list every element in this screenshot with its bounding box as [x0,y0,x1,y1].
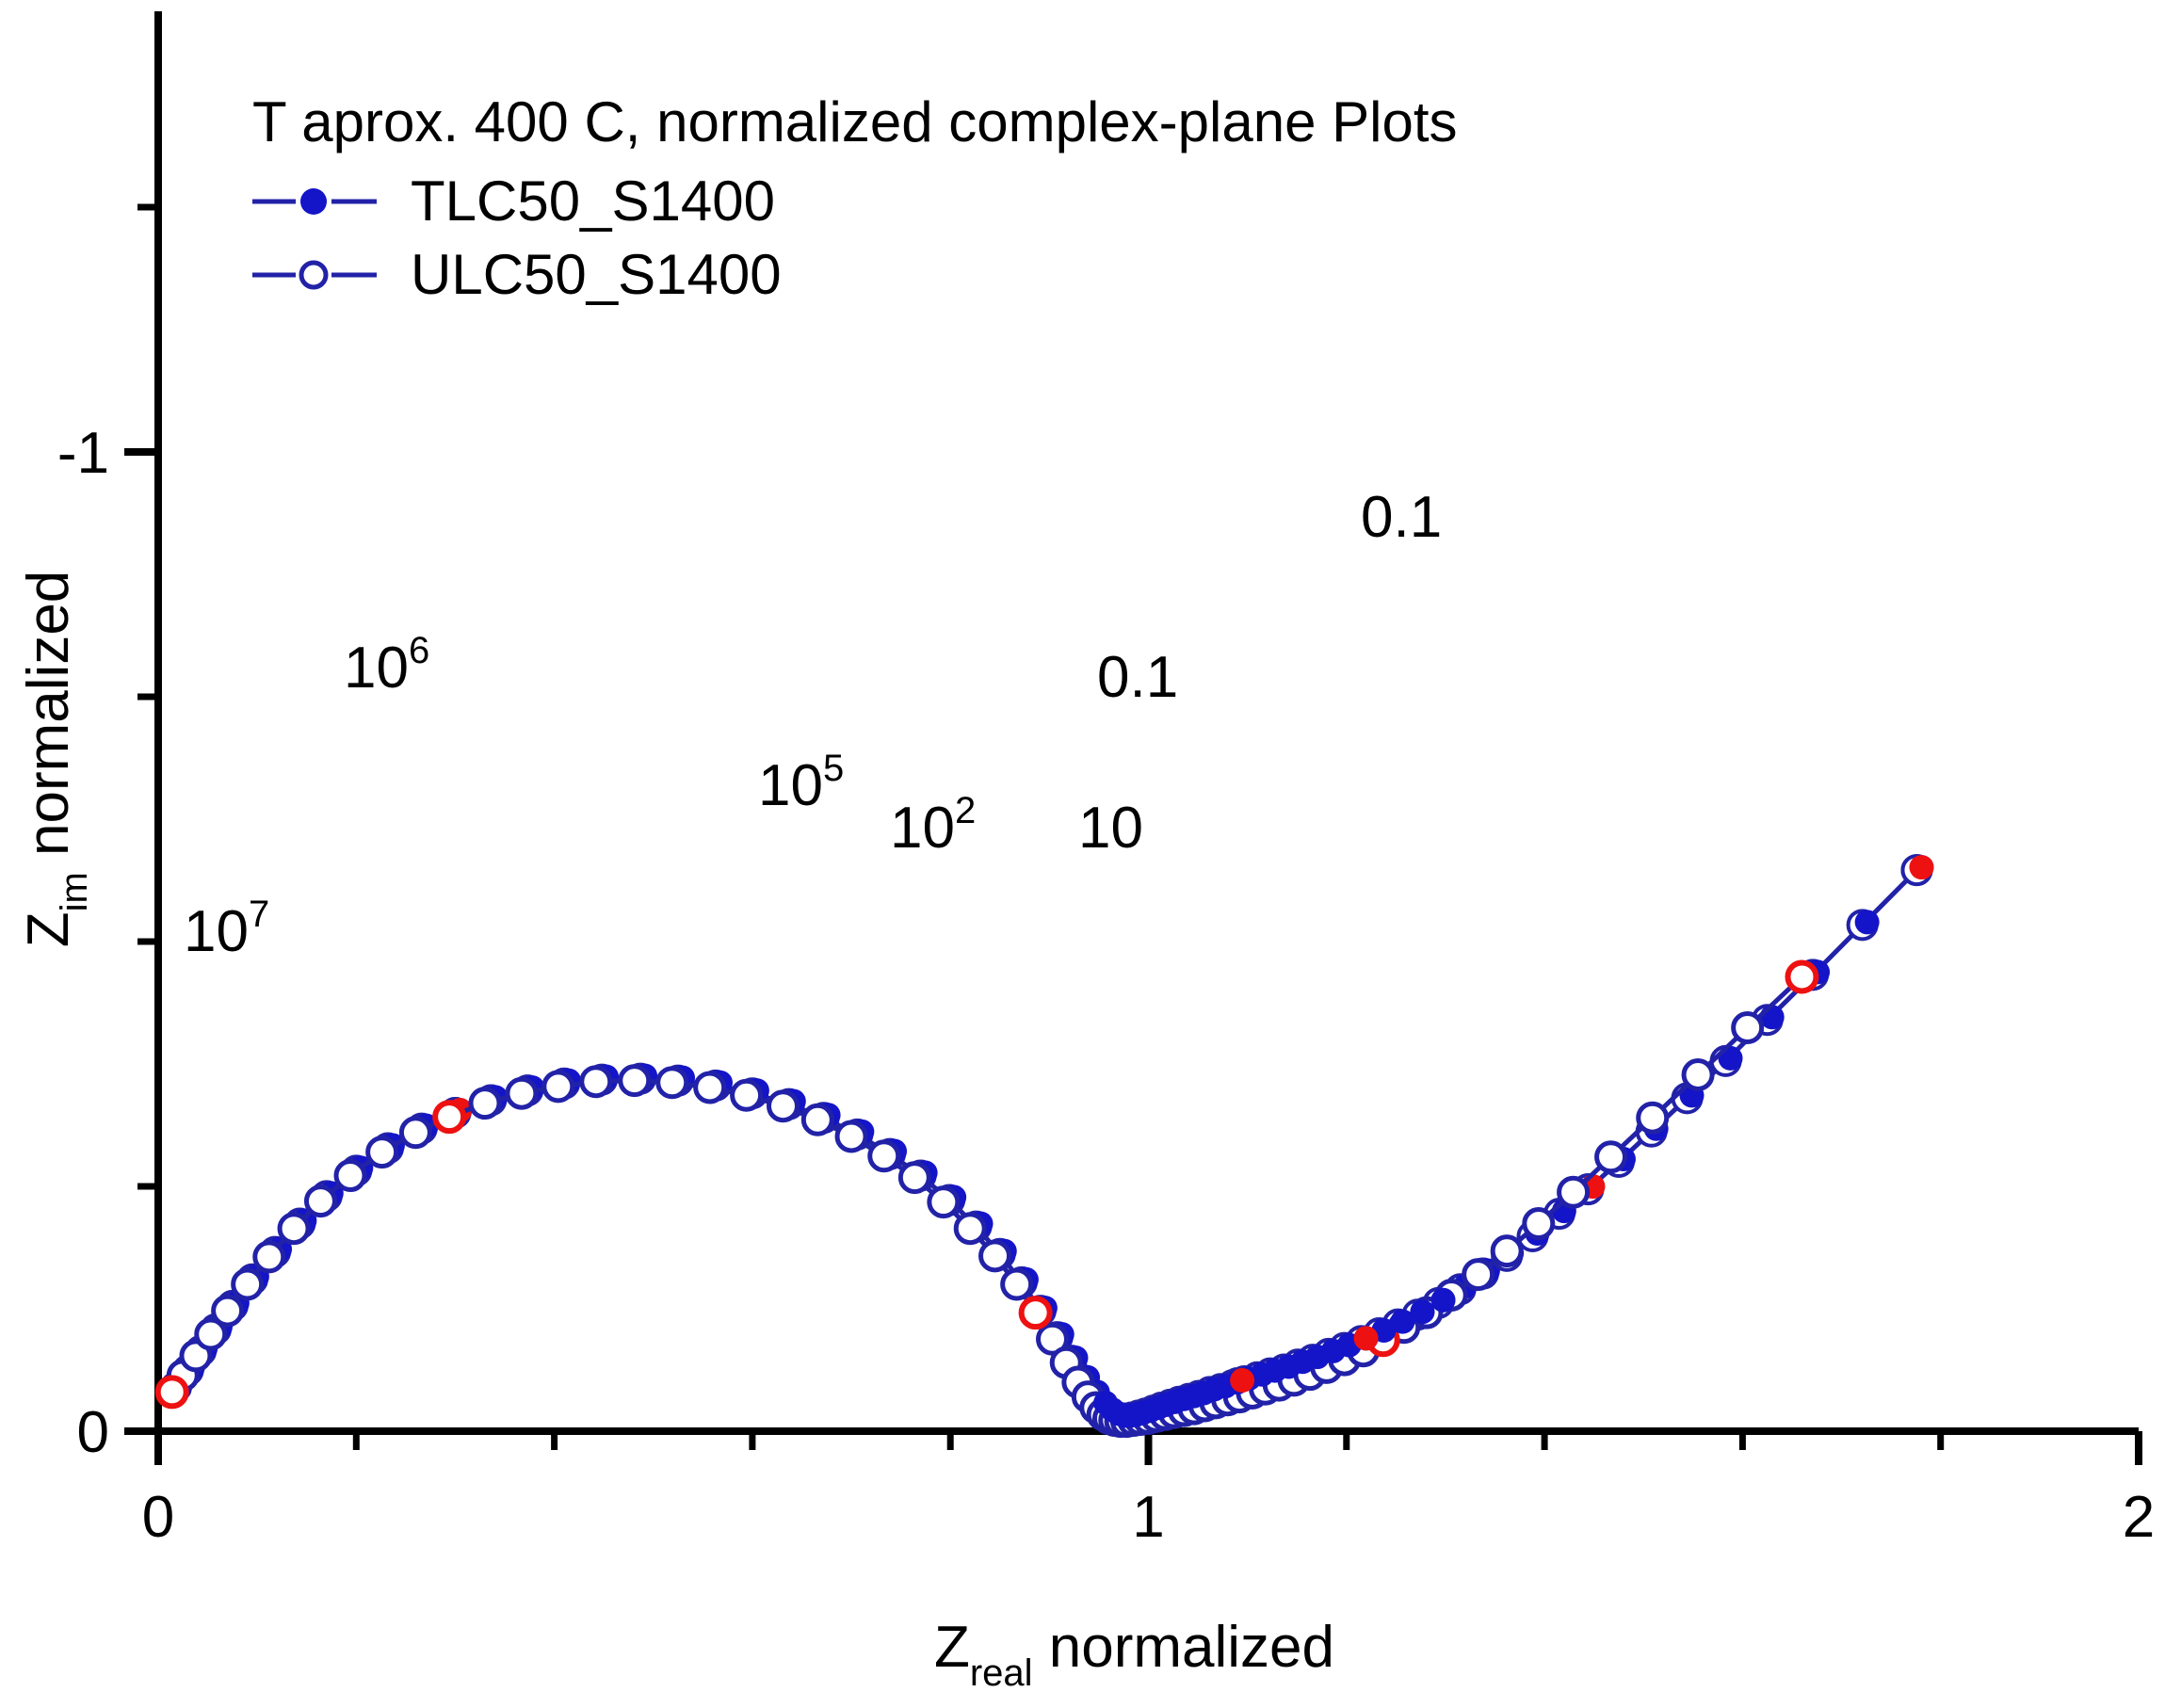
data-point [336,1162,364,1190]
annotation-base: 10 [758,753,823,818]
nyquist-plot-svg: 0120-1 107106105102100.10.1 T aprox. 400… [0,0,2165,1708]
data-point [1493,1237,1521,1265]
legend-marker-open-circle [301,263,326,287]
data-point [306,1187,334,1216]
data-point [900,1164,929,1192]
data-point [621,1067,649,1095]
x-tick-label: 0 [142,1485,174,1550]
annotation-exponent: 6 [409,630,429,671]
data-point-fill [1411,1299,1435,1324]
complex-plane-plot-figure: 0120-1 107106105102100.10.1 T aprox. 400… [0,0,2165,1708]
highlight-point [1230,1368,1254,1393]
annotation-base: 0.1 [1097,645,1178,710]
legend-title: T aprox. 400 C, normalized complex-plane… [252,90,1458,153]
data-point [234,1270,262,1298]
y-axis-title-tail: normalized [16,571,81,872]
x-tick-label: 2 [2123,1485,2155,1550]
data-point [582,1068,610,1096]
x-tick-label: 1 [1132,1485,1164,1550]
highlight-point [158,1378,186,1406]
data-point [401,1119,429,1147]
annotation-base: 0.1 [1361,485,1442,550]
data-point [803,1105,832,1134]
data-point [214,1297,242,1325]
data-point [1525,1210,1553,1238]
data-point [696,1073,724,1102]
data-point [768,1092,797,1120]
data-point [1734,1014,1762,1042]
annotation-text: 0.1 [1361,485,1442,550]
annotation-base: 10 [1078,796,1143,861]
data-point [981,1242,1010,1270]
annotation-text: 10 [1078,796,1143,861]
y-tick-label: -1 [57,421,109,486]
annotation-exponent: 2 [955,790,976,831]
x-axis-title-subscript: real [970,1652,1033,1694]
data-point [544,1072,573,1101]
highlight-point [1022,1298,1050,1327]
data-point [1464,1261,1493,1289]
annotation-text: 0.1 [1097,645,1178,710]
data-point [471,1089,499,1118]
annotation-base: 10 [344,636,409,701]
annotation-exponent: 5 [823,748,844,789]
annotation-exponent: 7 [249,894,269,935]
data-point [368,1138,396,1167]
data-point [956,1215,984,1243]
y-tick-label: 0 [77,1400,109,1465]
legend-marker-filled-circle [300,188,327,215]
data-point [1559,1178,1588,1206]
annotation-base: 10 [890,796,955,861]
annotation-ann-01-lower: 0.1 [1097,645,1178,710]
data-point [508,1079,536,1107]
highlight-point [1909,855,1933,879]
highlight-point [1354,1326,1379,1350]
x-axis-title-main: Z [934,1615,970,1680]
y-axis-title-subscript: im [54,872,95,911]
y-axis-title-main: Z [16,911,81,947]
annotation-ann-01-upper: 0.1 [1361,485,1442,550]
highlight-point [435,1103,463,1131]
highlight-point [1787,962,1816,991]
data-point [870,1142,898,1170]
legend-entry-label: ULC50_S1400 [411,243,782,306]
data-point [1639,1104,1667,1132]
data-point [733,1081,761,1109]
data-point-fill [1431,1288,1456,1313]
data-point [1597,1143,1625,1171]
data-point [1684,1060,1712,1088]
legend-entry-label: TLC50_S1400 [411,169,775,233]
data-point [658,1069,687,1097]
data-point [1003,1270,1031,1298]
annotation-ann-10: 10 [1078,796,1143,861]
annotation-base: 10 [184,899,249,964]
data-point [929,1188,958,1217]
data-point [837,1122,865,1151]
x-axis-title-tail: normalized [1033,1615,1334,1680]
data-point [280,1215,308,1243]
data-point [255,1243,283,1271]
data-point-fill [1855,910,1880,934]
